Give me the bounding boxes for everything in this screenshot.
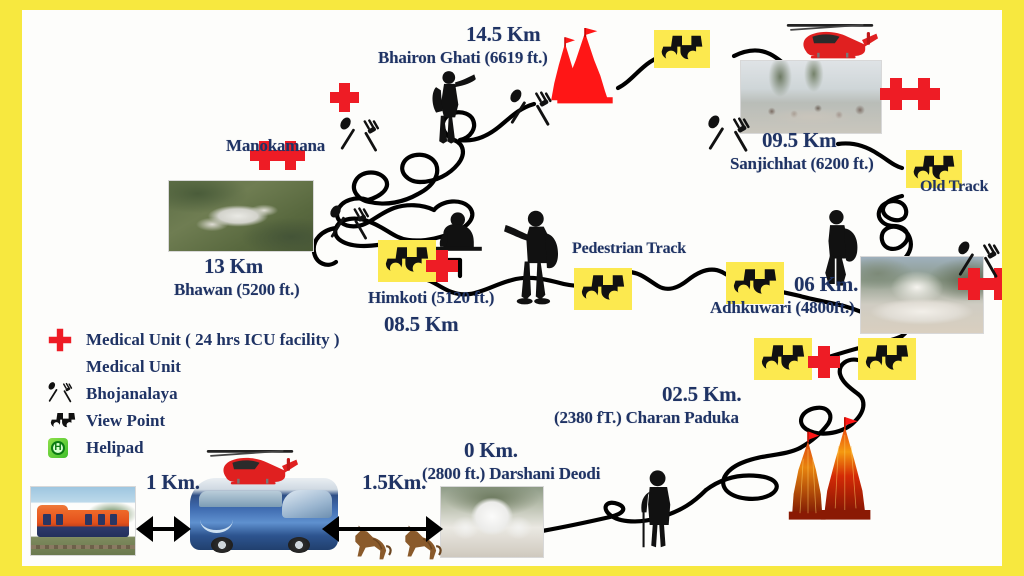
leg-train-to-bus-distance: 1 Km. xyxy=(146,470,200,495)
charan-paduka-km: 02.5 Km. xyxy=(662,382,741,407)
route-segment-plateau-e xyxy=(370,155,437,204)
legend-item-medical-icu: Medical Unit ( 24 hrs ICU facility ) xyxy=(48,326,340,353)
bhawan-km: 13 Km xyxy=(204,254,263,279)
charan-paduka-name: (2380 fT.) Charan Paduka xyxy=(554,408,739,428)
binoculars-icon xyxy=(574,268,632,310)
legend-label: Medical Unit ( 24 hrs ICU facility ) xyxy=(86,330,340,350)
route-segment-deodi-to-charanpaduka xyxy=(542,490,706,531)
walking-pilgrim-silhouette xyxy=(632,468,680,552)
train-window xyxy=(110,514,117,525)
fork-spoon-icon xyxy=(338,116,379,152)
train-track xyxy=(31,545,135,549)
bus-windshield xyxy=(282,490,332,519)
legend-item-medical: Medical Unit xyxy=(48,353,340,380)
binoculars-icon xyxy=(48,411,86,431)
train-photo xyxy=(30,486,136,556)
legend-item-view-point: View Point xyxy=(48,407,340,434)
fork-spoon-icon xyxy=(328,204,369,240)
trekker-silhouette xyxy=(420,68,476,146)
himkoti-name: Himkoti (5120 ft.) xyxy=(368,288,494,308)
route-segment-himkoti-stub xyxy=(436,260,460,276)
binoculars-icon xyxy=(654,30,710,68)
bhawan-name: Bhawan (5200 ft.) xyxy=(174,280,300,300)
binoculars-icon xyxy=(378,240,436,282)
darshani-deodi-name: (2800 ft.) Darshani Deodi xyxy=(422,464,600,484)
legend-label: View Point xyxy=(86,411,165,431)
hiker-with-backpack-silhouette xyxy=(504,206,566,306)
bus-wheel xyxy=(288,537,310,553)
bus-wheel xyxy=(211,537,233,553)
helipad-icon: H xyxy=(48,438,86,458)
himkoti-km: 08.5 Km xyxy=(384,312,458,337)
train-window xyxy=(43,514,50,525)
bus-side-windows xyxy=(199,491,282,507)
bhairon-ghati-temple-icon xyxy=(546,28,624,108)
red-cross-icon xyxy=(984,268,1002,300)
red-cross-icon xyxy=(908,78,940,110)
bhawan-photo xyxy=(168,180,314,252)
red-cross-icon xyxy=(48,328,86,352)
bhairon-ghati-name: Bhairon Ghati (6619 ft.) xyxy=(378,48,548,68)
route-segment-plateau-f xyxy=(420,140,463,182)
map-canvas: 14.5 Km Bhairon Ghati (6619 ft.) 09.5 Km… xyxy=(22,10,1002,566)
legend-item-bhojanalaya: Bhojanalaya xyxy=(48,380,340,407)
route-segment-plateau-d xyxy=(354,173,387,203)
legend-label: Helipad xyxy=(86,438,144,458)
darshani-deodi-photo xyxy=(440,486,544,558)
route-segment-temple-to-binocs xyxy=(840,360,858,394)
arrow-line xyxy=(330,527,440,531)
red-cross-icon xyxy=(880,78,912,110)
legend-label: Medical Unit xyxy=(86,357,181,377)
leg-bus-to-deodi-distance: 1.5Km. xyxy=(362,470,426,495)
helipad-glyph: H xyxy=(51,441,65,455)
charan-paduka-temple-icon xyxy=(784,414,880,526)
arrow-head-right xyxy=(426,516,443,542)
red-cross-icon xyxy=(48,358,86,375)
legend-item-helipad: H Helipad xyxy=(48,434,340,461)
helipad-badge: H xyxy=(48,438,68,458)
adhkuwari-km: 06 Km. xyxy=(794,272,858,297)
bhairon-ghati-km: 14.5 Km xyxy=(466,22,540,47)
helicopter-icon xyxy=(782,16,878,64)
route-segment-bhawan-link xyxy=(314,228,336,265)
red-cross-icon xyxy=(330,83,359,112)
sanjichhat-photo xyxy=(740,60,882,134)
legend-label: Bhojanalaya xyxy=(86,384,178,404)
train-window xyxy=(98,514,105,525)
adhkuwari-name: Adhkuwari (4800ft.) xyxy=(710,298,855,318)
binoculars-icon xyxy=(754,338,812,380)
legend: Medical Unit ( 24 hrs ICU facility ) Med… xyxy=(48,326,340,461)
pedestrian-track-label: Pedestrian Track xyxy=(572,240,686,258)
sanjichhat-name: Sanjichhat (6200 ft.) xyxy=(730,154,874,174)
sanjichhat-km: 09.5 Km xyxy=(762,128,836,153)
map-poster: 14.5 Km Bhairon Ghati (6619 ft.) 09.5 Km… xyxy=(0,0,1024,576)
train-window xyxy=(85,514,92,525)
manokamana-name: Manokamana xyxy=(226,136,325,156)
fork-spoon-icon xyxy=(48,382,86,405)
route-segment-plateau-c xyxy=(337,198,434,226)
old-track-label: Old Track xyxy=(920,178,988,196)
train-window xyxy=(56,514,63,525)
adhkuwari-photo xyxy=(860,256,984,334)
darshani-deodi-km: 0 Km. xyxy=(464,438,518,463)
binoculars-icon xyxy=(858,338,916,380)
red-cross-icon xyxy=(808,346,840,378)
arrow-head-right xyxy=(174,516,191,542)
